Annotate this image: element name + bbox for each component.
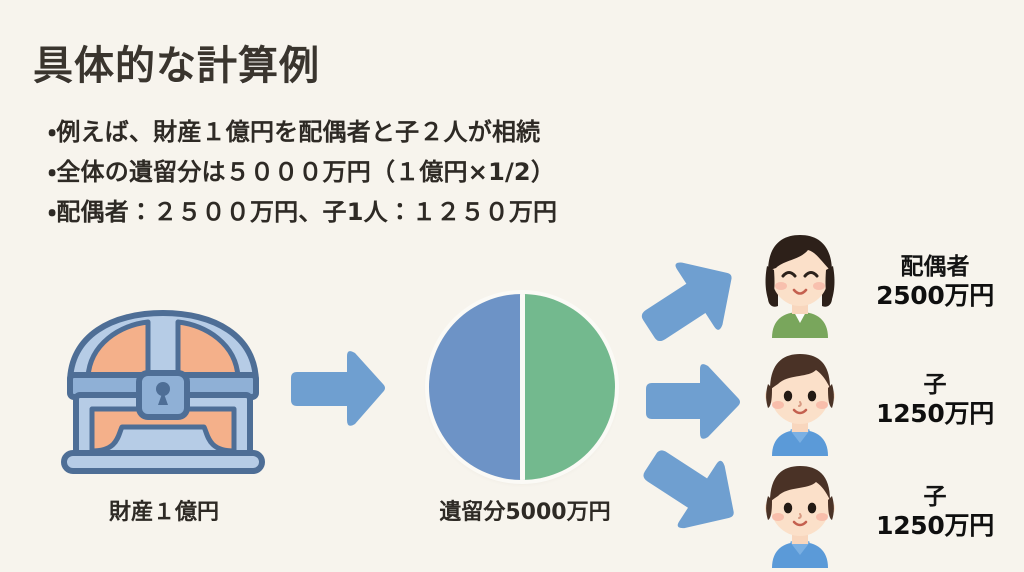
- recipient-row-child-2: 子 1250万円: [750, 456, 1024, 568]
- bullet-list: ・例えば、財産１億円を配偶者と子２人が相続 ・全体の遺留分は５０００万円（１億円…: [48, 112, 748, 232]
- recipient-name: 子: [850, 483, 1020, 511]
- pie-half-right: [522, 294, 615, 480]
- pie-caption: 遺留分5000万円: [400, 494, 650, 526]
- inheritance-pie-chart: [429, 294, 619, 484]
- boy-avatar-icon: [750, 456, 850, 568]
- pie-divider: [520, 294, 525, 480]
- recipient-name: 子: [850, 371, 1020, 399]
- recipient-row-spouse: 配偶者 2500万円: [750, 226, 1024, 338]
- bullet-item-3: ・配偶者：２５００万円、子1人：１２５０万円: [48, 192, 748, 232]
- arrow-pie-to-spouse: [634, 254, 746, 358]
- recipient-labels-spouse: 配偶者 2500万円: [850, 253, 1024, 311]
- recipient-amount: 1250万円: [850, 399, 1020, 429]
- arrow-pie-to-child-2: [634, 440, 746, 544]
- treasure-chest-icon: [58, 305, 268, 480]
- bullet-item-2: ・全体の遺留分は５０００万円（１億円×1/2）: [48, 152, 748, 192]
- pie-half-left: [429, 294, 522, 480]
- arrow-chest-to-pie: [285, 348, 389, 436]
- recipient-labels-child-2: 子 1250万円: [850, 483, 1024, 541]
- recipient-amount: 1250万円: [850, 511, 1020, 541]
- recipient-name: 配偶者: [850, 253, 1020, 281]
- page-title: 具体的な計算例: [33, 33, 320, 91]
- woman-avatar-icon: [750, 226, 850, 338]
- bullet-item-1: ・例えば、財産１億円を配偶者と子２人が相続: [48, 112, 748, 152]
- recipient-amount: 2500万円: [850, 281, 1020, 311]
- arrow-pie-to-child-1: [640, 363, 744, 445]
- pie-body: [429, 294, 615, 480]
- chest-caption: 財産１億円: [58, 494, 270, 526]
- recipient-labels-child-1: 子 1250万円: [850, 371, 1024, 429]
- boy-avatar-icon: [750, 344, 850, 456]
- recipient-row-child-1: 子 1250万円: [750, 344, 1024, 456]
- slide-canvas: 具体的な計算例 ・例えば、財産１億円を配偶者と子２人が相続 ・全体の遺留分は５０…: [0, 0, 1024, 571]
